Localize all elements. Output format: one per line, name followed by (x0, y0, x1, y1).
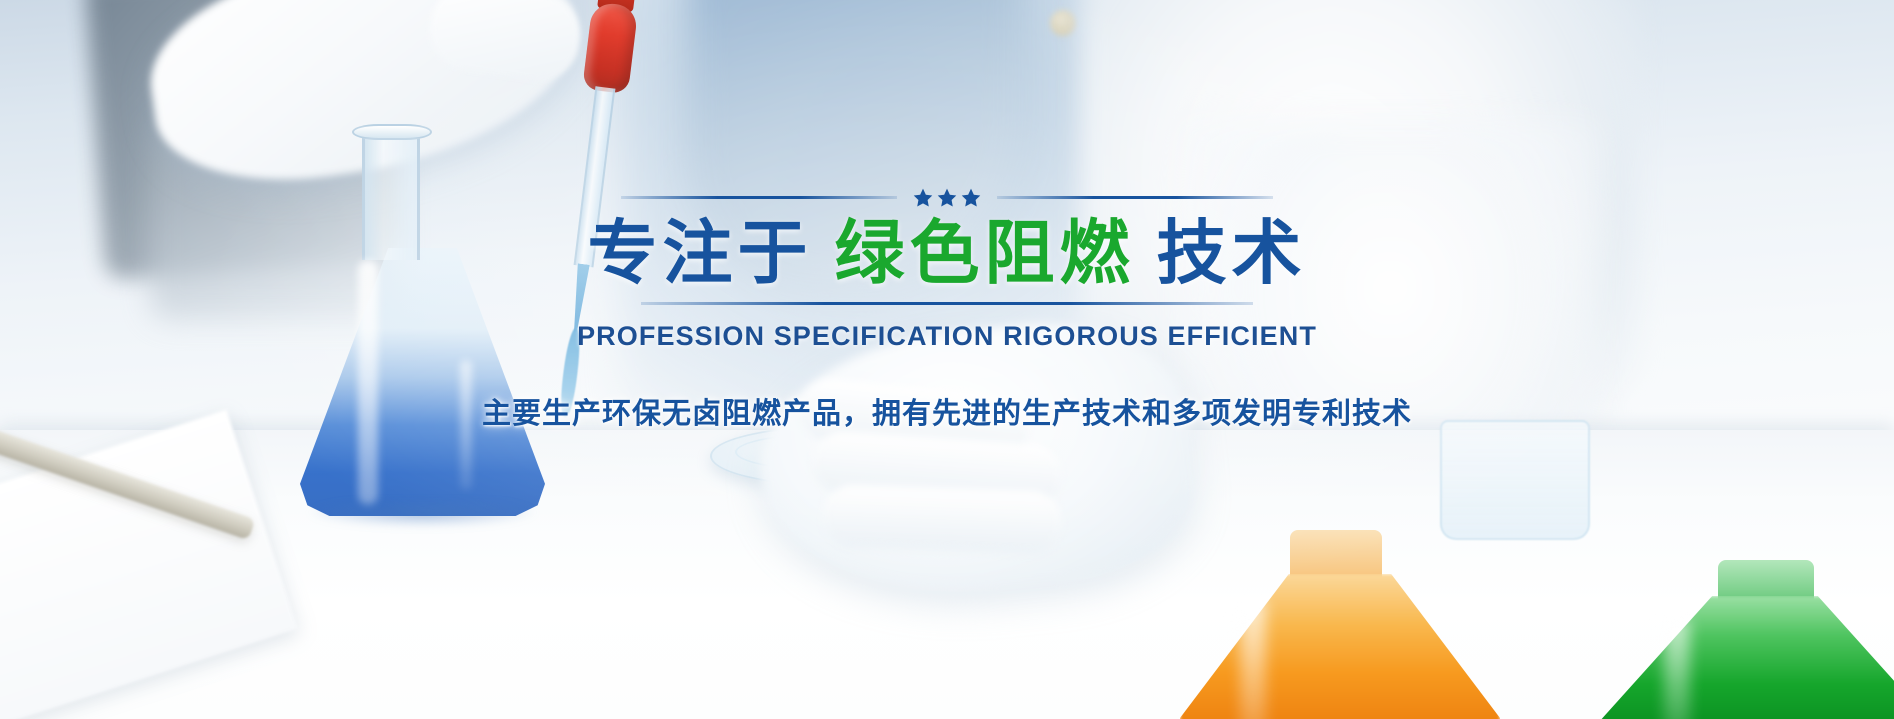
hero-banner: 专注于绿色阻燃技术 PROFESSION SPECIFICATION RIGOR… (0, 0, 1894, 719)
divider-left (621, 196, 897, 199)
description-chinese: 主要生产环保无卤阻燃产品，拥有先进的生产技术和多项发明专利技术 (482, 390, 1412, 432)
decor-rule-row (621, 196, 1273, 199)
banner-content: 专注于绿色阻燃技术 PROFESSION SPECIFICATION RIGOR… (0, 0, 1894, 719)
headline-part-2: 绿色阻燃 (835, 214, 1135, 292)
headline-part-1: 专注于 (588, 214, 813, 292)
headline: 专注于绿色阻燃技术 (588, 215, 1307, 292)
divider-bottom (641, 302, 1253, 305)
divider-right (997, 196, 1273, 199)
subtitle-english: PROFESSION SPECIFICATION RIGOROUS EFFICI… (577, 321, 1317, 352)
headline-part-3: 技术 (1157, 214, 1307, 292)
